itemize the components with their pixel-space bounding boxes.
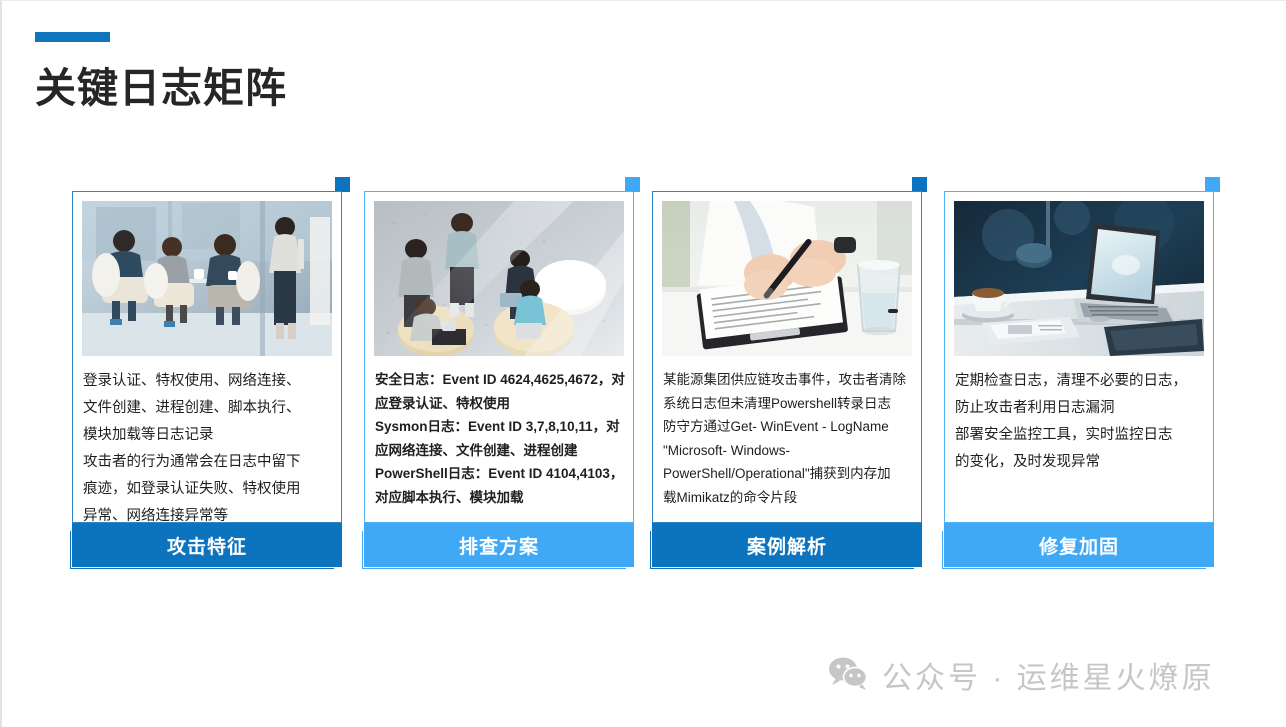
button-remediation-hardening[interactable]: 修复加固 <box>944 523 1214 567</box>
card-image-attack-features <box>82 201 332 356</box>
card-line: 部署安全监控工具，实时监控日志 <box>955 422 1205 449</box>
card-marker-4 <box>1205 177 1220 192</box>
card-investigation-plan[interactable]: 安全日志：Event ID 4624,4625,4672，对 应登录认证、特权使… <box>364 191 634 523</box>
card-text-remediation-hardening: 定期检查日志，清理不必要的日志， 防止攻击者利用日志漏洞 部署安全监控工具，实时… <box>955 368 1205 476</box>
card-line: 对应脚本执行、模块加载 <box>375 486 625 510</box>
title-accent-bar <box>35 32 110 42</box>
card-line: 模块加载等日志记录 <box>83 422 333 449</box>
card-line: PowerShell日志：Event ID 4104,4103， <box>375 462 625 486</box>
card-line: 应网络连接、文件创建、进程创建 <box>375 439 625 463</box>
card-line: Sysmon日志：Event ID 3,7,8,10,11，对 <box>375 415 625 439</box>
card-attack-features[interactable]: 登录认证、特权使用、网络连接、 文件创建、进程创建、脚本执行、 模块加载等日志记… <box>72 191 342 523</box>
card-line: 登录认证、特权使用、网络连接、 <box>83 368 333 395</box>
button-investigation-plan[interactable]: 排查方案 <box>364 523 634 567</box>
card-marker-2 <box>625 177 640 192</box>
watermark: 公众号 · 运维星火燎原 <box>828 653 1215 697</box>
card-line: 应登录认证、特权使用 <box>375 392 625 416</box>
card-line: 防守方通过Get- WinEvent - LogName <box>663 415 913 439</box>
card-line: 文件创建、进程创建、脚本执行、 <box>83 395 333 422</box>
page-title: 关键日志矩阵 <box>35 54 287 114</box>
card-text-case-analysis: 某能源集团供应链攻击事件，攻击者清除 系统日志但未清理Powershell转录日… <box>663 368 913 509</box>
button-case-analysis[interactable]: 案例解析 <box>652 523 922 567</box>
card-line: 攻击者的行为通常会在日志中留下 <box>83 449 333 476</box>
card-text-attack-features: 登录认证、特权使用、网络连接、 文件创建、进程创建、脚本执行、 模块加载等日志记… <box>83 368 333 530</box>
card-line: 的变化，及时发现异常 <box>955 449 1205 476</box>
watermark-text: 公众号 · 运维星火燎原 <box>882 653 1215 697</box>
card-line: 系统日志但未清理Powershell转录日志 <box>663 392 913 416</box>
card-remediation-hardening[interactable]: 定期检查日志，清理不必要的日志， 防止攻击者利用日志漏洞 部署安全监控工具，实时… <box>944 191 1214 523</box>
wechat-icon <box>828 656 868 695</box>
card-marker-1 <box>335 177 350 192</box>
card-line: 痕迹，如登录认证失败、特权使用 <box>83 476 333 503</box>
card-image-investigation-plan <box>374 201 624 356</box>
button-attack-features[interactable]: 攻击特征 <box>72 523 342 567</box>
card-image-case-analysis <box>662 201 912 356</box>
card-line: 定期检查日志，清理不必要的日志， <box>955 368 1205 395</box>
card-line: PowerShell/Operational"捕获到内存加 <box>663 462 913 486</box>
slide-canvas: 关键日志矩阵 <box>0 0 1286 727</box>
card-line: 安全日志：Event ID 4624,4625,4672，对 <box>375 368 625 392</box>
card-row: 登录认证、特权使用、网络连接、 文件创建、进程创建、脚本执行、 模块加载等日志记… <box>72 177 1218 573</box>
card-line: "Microsoft- Windows- <box>663 439 913 463</box>
card-case-analysis[interactable]: 某能源集团供应链攻击事件，攻击者清除 系统日志但未清理Powershell转录日… <box>652 191 922 523</box>
card-line: 防止攻击者利用日志漏洞 <box>955 395 1205 422</box>
card-marker-3 <box>912 177 927 192</box>
card-image-remediation-hardening <box>954 201 1204 356</box>
card-text-investigation-plan: 安全日志：Event ID 4624,4625,4672，对 应登录认证、特权使… <box>375 368 625 509</box>
card-line: 载Mimikatz的命令片段 <box>663 486 913 510</box>
card-line: 某能源集团供应链攻击事件，攻击者清除 <box>663 368 913 392</box>
